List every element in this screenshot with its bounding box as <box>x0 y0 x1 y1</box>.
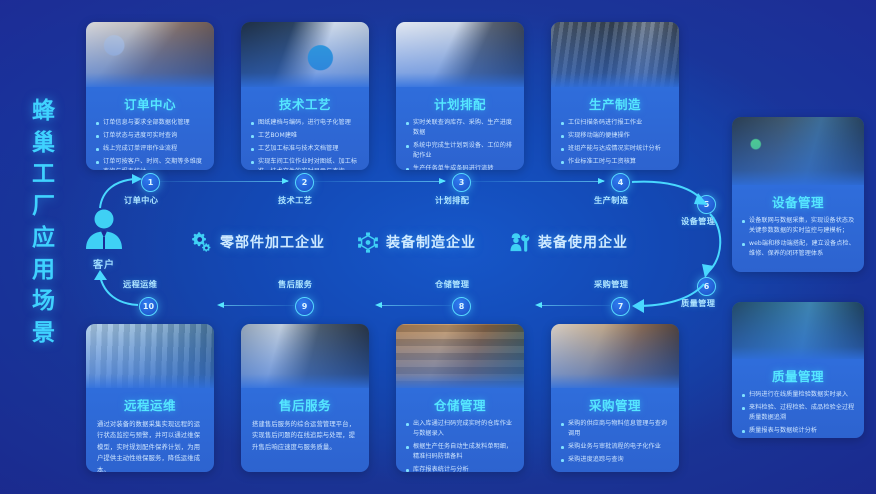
card-title: 计划排配 <box>404 94 516 113</box>
list-item: web端和移动端搭配，建立设备点检、维修、保养的闭环管理体系 <box>740 239 856 259</box>
flow-node-9[interactable]: 9 <box>295 297 314 316</box>
flow-arrowhead <box>439 178 446 184</box>
flow-label-after-sales: 售后服务 <box>278 278 312 290</box>
card-photo <box>732 117 864 185</box>
worker-wrench-icon <box>509 231 531 253</box>
card-tech-process[interactable]: 技术工艺 图纸建档与编码，进行电子化管理 工艺BOM建唯 工艺加工标准与技术文档… <box>241 22 369 170</box>
flow-arrow-6-7 <box>630 278 710 316</box>
gears-icon <box>191 231 213 253</box>
card-purchase[interactable]: 采购管理 采购的供应商与物料信息管理与查询调用 采购业务与审批流程的电子化作业 … <box>551 324 679 472</box>
infographic-canvas: 蜂 巢 工 厂 应 用 场 景 订单中心 订单信息与要求全部数据化管理 订单状态… <box>0 0 876 494</box>
list-item: 订单状态与进度可实时查询 <box>94 131 206 141</box>
list-item: 采购业务与审批流程的电子化作业 <box>559 442 671 452</box>
card-photo <box>241 22 369 87</box>
enterprise-parts-processing[interactable]: 零部件加工企业 <box>191 231 325 253</box>
card-title: 订单中心 <box>94 94 206 113</box>
card-warehouse[interactable]: 仓储管理 出入库通过扫码完成实时的仓库作业与数据录入 根据生产任务自动生成发料单… <box>396 324 524 472</box>
enterprise-equipment-manufacturing[interactable]: 装备制造企业 <box>357 231 476 253</box>
flow-label-purchase: 采购管理 <box>594 278 628 290</box>
enterprise-label: 装备制造企业 <box>386 232 476 252</box>
card-production[interactable]: 生产制造 工位扫描条码进行报工作业 实现移动端的便捷操作 班组产能与达成情况实时… <box>551 22 679 170</box>
flow-label-production: 生产制造 <box>594 194 628 206</box>
page-title: 蜂 巢 工 厂 应 用 场 景 <box>22 96 66 350</box>
card-order-center[interactable]: 订单中心 订单信息与要求全部数据化管理 订单状态与进度可实时查询 线上完成订单评… <box>86 22 214 170</box>
list-item: 质量报表与数据统计分析 <box>740 426 856 436</box>
list-item: 系统中完成生计划到设备、工位的排配作业 <box>404 141 516 161</box>
flow-arrow-1-2 <box>160 181 288 182</box>
list-item: 图纸建档与编码，进行电子化管理 <box>249 118 361 128</box>
list-item: 工位扫描条码进行报工作业 <box>559 118 671 128</box>
title-char: 用 <box>22 255 66 287</box>
card-photo <box>86 324 214 388</box>
title-char: 场 <box>22 286 66 318</box>
card-title: 生产制造 <box>559 94 671 113</box>
flow-arrow-4-5 <box>628 172 718 208</box>
flow-label-tech-process: 技术工艺 <box>278 194 312 206</box>
flow-arrowhead <box>535 302 542 308</box>
list-item: 出入库通过扫码完成实时的仓库作业与数据录入 <box>404 419 516 439</box>
card-bullet-list: 采购的供应商与物料信息管理与查询调用 采购业务与审批流程的电子化作业 采购进度追… <box>559 419 671 465</box>
flow-arrowhead <box>375 302 382 308</box>
list-item: 班组产能与达成情况实时统计分析 <box>559 144 671 154</box>
flow-arrowhead <box>598 178 605 184</box>
flow-node-7[interactable]: 7 <box>611 297 630 316</box>
flow-arrowhead <box>217 302 224 308</box>
card-paragraph: 通过对装备的数据采集实现远程的运行状态监控与预警，并可以通过维保模型，实时规划配… <box>94 419 206 472</box>
title-char: 景 <box>22 318 66 350</box>
customer-node: 客户 <box>73 208 135 271</box>
flow-node-8[interactable]: 8 <box>452 297 471 316</box>
flow-arrow-3-4 <box>471 181 604 182</box>
card-quality[interactable]: 质量管理 扫码进行在线质量检验数据实时录入 来料检验、过程检验、成品检验全过程质… <box>732 302 864 438</box>
enterprise-label: 装备使用企业 <box>538 232 628 252</box>
flow-node-3[interactable]: 3 <box>452 173 471 192</box>
card-title: 远程运维 <box>94 395 206 414</box>
flow-arrow-5-6 <box>690 210 730 282</box>
list-item: 来料检验、过程检验、成品检验全过程质量数据追溯 <box>740 403 856 423</box>
list-item: 实时关联查询库存、采购、生产进度数据 <box>404 118 516 138</box>
flow-arrow-2-3 <box>314 181 445 182</box>
card-title: 仓储管理 <box>404 395 516 414</box>
card-bullet-list: 设备联网与数据采集，实现设备状态及关键参数数据的实时监控与建模析； web端和移… <box>740 216 856 259</box>
list-item: 实现移动端的便捷操作 <box>559 131 671 141</box>
list-item: 实现车间工位作业时对图纸、加工标准、技术文件的实时显示与查询 <box>249 157 361 170</box>
list-item: 采购进度追踪与查询 <box>559 455 671 465</box>
title-char: 蜂 <box>22 96 66 128</box>
flow-label-plan-schedule: 计划排配 <box>435 194 469 206</box>
card-title: 设备管理 <box>740 192 856 211</box>
card-plan-schedule[interactable]: 计划排配 实时关联查询库存、采购、生产进度数据 系统中完成生计划到设备、工位的排… <box>396 22 524 170</box>
card-photo <box>241 324 369 388</box>
list-item: 工艺BOM建唯 <box>249 131 361 141</box>
card-paragraph: 搭建售后服务的综合运营管理平台，实现售后问题的在线追踪与处理，提升售后响应速度与… <box>249 419 361 453</box>
card-equipment[interactable]: 设备管理 设备联网与数据采集，实现设备状态及关键参数数据的实时监控与建模析； w… <box>732 117 864 272</box>
card-photo <box>396 324 524 388</box>
flow-arrowhead <box>282 178 289 184</box>
enterprise-equipment-usage[interactable]: 装备使用企业 <box>509 231 628 253</box>
card-bullet-list: 出入库通过扫码完成实时的仓库作业与数据录入 根据生产任务自动生成发料单明细，精准… <box>404 419 516 472</box>
card-photo <box>396 22 524 87</box>
card-bullet-list: 实时关联查询库存、采购、生产进度数据 系统中完成生计划到设备、工位的排配作业 生… <box>404 118 516 170</box>
card-after-sales[interactable]: 售后服务 搭建售后服务的综合运营管理平台，实现售后问题的在线追踪与处理，提升售后… <box>241 324 369 472</box>
list-item: 生产任务单生成条码进行流转 <box>404 164 516 170</box>
card-bullet-list: 工位扫描条码进行报工作业 实现移动端的便捷操作 班组产能与达成情况实时统计分析 … <box>559 118 671 167</box>
list-item: 线上完成订单评审作业流程 <box>94 144 206 154</box>
title-char: 工 <box>22 159 66 191</box>
card-title: 采购管理 <box>559 395 671 414</box>
card-title: 质量管理 <box>740 366 856 385</box>
title-char: 巢 <box>22 128 66 160</box>
list-item: 设备联网与数据采集，实现设备状态及关键参数数据的实时监控与建模析； <box>740 216 856 236</box>
list-item: 工艺加工标准与技术文档管理 <box>249 144 361 154</box>
card-bullet-list: 扫码进行在线质量检验数据实时录入 来料检验、过程检验、成品检验全过程质量数据追溯… <box>740 390 856 436</box>
flow-arrow-7-8 <box>540 305 610 306</box>
enterprise-label: 零部件加工企业 <box>220 232 325 252</box>
card-bullet-list: 订单信息与要求全部数据化管理 订单状态与进度可实时查询 线上完成订单评审作业流程… <box>94 118 206 170</box>
flow-node-2[interactable]: 2 <box>295 173 314 192</box>
card-remote-ops[interactable]: 远程运维 通过对装备的数据采集实现远程的运行状态监控与预警，并可以通过维保模型，… <box>86 324 214 472</box>
title-char: 厂 <box>22 191 66 223</box>
flow-arrow-10-to-customer <box>92 268 150 312</box>
card-bullet-list: 图纸建档与编码，进行电子化管理 工艺BOM建唯 工艺加工标准与技术文档管理 实现… <box>249 118 361 170</box>
flow-arrow-8-9 <box>380 305 451 306</box>
flow-arrow-9-10 <box>222 305 294 306</box>
list-item: 根据生产任务自动生成发料单明细，精准扫码防错备料 <box>404 442 516 462</box>
list-item: 库存报表统计与分析 <box>404 465 516 472</box>
network-hub-icon <box>357 231 379 253</box>
title-char: 应 <box>22 223 66 255</box>
user-person-icon <box>81 208 127 250</box>
card-photo <box>732 302 864 359</box>
card-photo <box>551 324 679 388</box>
flow-label-warehouse: 仓储管理 <box>435 278 469 290</box>
list-item: 作业标准工时与工资核算 <box>559 157 671 167</box>
card-title: 技术工艺 <box>249 94 361 113</box>
flow-arrow-customer-to-1 <box>92 168 152 210</box>
card-photo <box>551 22 679 87</box>
card-photo <box>86 22 214 87</box>
card-title: 售后服务 <box>249 395 361 414</box>
list-item: 扫码进行在线质量检验数据实时录入 <box>740 390 856 400</box>
list-item: 订单信息与要求全部数据化管理 <box>94 118 206 128</box>
list-item: 采购的供应商与物料信息管理与查询调用 <box>559 419 671 439</box>
